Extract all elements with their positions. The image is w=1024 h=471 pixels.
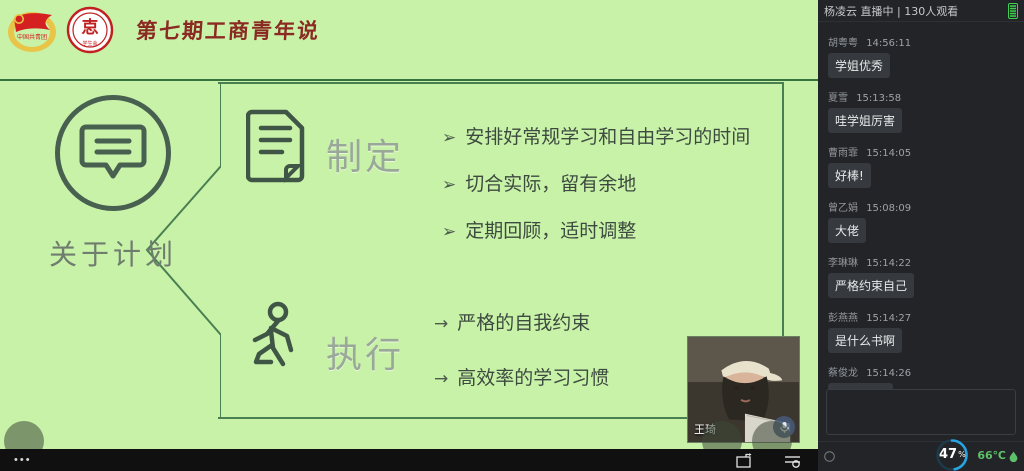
slide-header: 中国共青团 怘 学生会 第七期工商青年说 [0, 4, 320, 56]
bullet-text: 切合实际，留有余地 [465, 175, 636, 194]
arrow-bullet-icon: → [434, 371, 448, 388]
share-screen-icon[interactable] [734, 451, 756, 469]
temperature-indicator: 66℃ [977, 450, 1018, 462]
walking-person-icon [240, 300, 314, 386]
chat-timestamp: 15:14:22 [866, 258, 911, 269]
slide-canvas: 中国共青团 怘 学生会 第七期工商青年说 [0, 0, 818, 471]
chat-message-text: 学姐优秀 [828, 53, 890, 78]
chat-timestamp: 14:56:11 [866, 38, 911, 49]
chat-message: 李琳琳 15:14:22 严格约束自己 [828, 254, 1016, 298]
battery-percent-value: 47 [939, 447, 957, 462]
student-union-emblem: 怘 学生会 [64, 6, 116, 54]
chat-user-name: 胡粤粤 [828, 38, 858, 49]
chat-message: 曾乙娟 15:08:09 大佬 [828, 199, 1016, 243]
chat-message-text: 好棒! [828, 163, 871, 188]
header-divider [0, 79, 818, 81]
chat-message-meta: 曹雨霏 15:14:05 [828, 144, 1016, 159]
chat-user-name: 彭燕燕 [828, 313, 858, 324]
presentation-stage: 中国共青团 怘 学生会 第七期工商青年说 [0, 0, 818, 471]
chevron-bullet-icon: ➢ [442, 130, 456, 147]
stage-toolbar-actions [734, 451, 818, 469]
chat-message-text: 哇学姐厉害 [828, 108, 902, 133]
chevron-bullet-icon: ➢ [442, 177, 456, 194]
chat-message-text: 是什么书啊 [828, 328, 902, 353]
svg-text:中国共青团: 中国共青团 [17, 33, 47, 41]
chat-message-text: 大佬 [828, 218, 866, 243]
bullet-list-exec: → 严格的自我约束 → 高效率的学习习惯 [434, 314, 609, 424]
chat-message-meta: 蔡俊龙 15:14:26 [828, 364, 1016, 379]
bullet-text: 严格的自我约束 [457, 314, 590, 333]
bullet-item: ➢ 切合实际，留有余地 [442, 175, 750, 194]
chat-panel-footer: 47% 66℃ [818, 441, 1024, 471]
topic-block: 关于计划 [18, 95, 208, 273]
chat-timestamp: 15:08:09 [866, 203, 911, 214]
slide-row-plan: 制定 ➢ 安排好常规学习和自由学习的时间 ➢ 切合实际，留有余地 ➢ 定期回顾，… [240, 106, 750, 269]
stage-toolbar: ••• [0, 449, 818, 471]
chat-input-box[interactable] [826, 389, 1016, 435]
arrow-bullet-icon: → [434, 316, 448, 333]
stream-title: 杨凌云 直播中 | 130人观看 [824, 3, 958, 19]
chat-message-meta: 彭燕燕 15:14:27 [828, 309, 1016, 324]
chat-panel: 杨凌云 直播中 | 130人观看 胡粤粤 14:56:11 学姐优秀 [818, 0, 1024, 471]
bullet-item: → 高效率的学习习惯 [434, 369, 609, 388]
chat-user-name: 蔡俊龙 [828, 368, 858, 379]
chat-timestamp: 15:14:05 [866, 148, 911, 159]
signal-bars-icon [1008, 3, 1018, 19]
svg-text:学生会: 学生会 [82, 40, 97, 47]
chat-bubble-icon [824, 451, 835, 462]
chat-message: 蔡俊龙 15:14:26 好厉害👍 [828, 364, 1016, 389]
slide-row-exec: 执行 → 严格的自我约束 → 高效率的学习习惯 [240, 300, 609, 424]
chat-message-meta: 曾乙娟 15:08:09 [828, 199, 1016, 214]
svg-text:怘: 怘 [82, 17, 99, 38]
chat-message: 曹雨霏 15:14:05 好棒! [828, 144, 1016, 188]
settings-icon[interactable] [782, 451, 804, 469]
chat-timestamp: 15:13:58 [856, 93, 901, 104]
deck-title: 第七期工商青年说 [135, 15, 321, 45]
speech-bubble-icon [55, 95, 171, 211]
battery-percent: 47% [935, 438, 969, 471]
chat-message: 胡粤粤 14:56:11 学姐优秀 [828, 34, 1016, 78]
chat-user-name: 夏雪 [828, 93, 848, 104]
row-title-plan: 制定 [326, 128, 404, 180]
chat-timestamp: 15:14:26 [866, 368, 911, 379]
bullet-list-plan: ➢ 安排好常规学习和自由学习的时间 ➢ 切合实际，留有余地 ➢ 定期回顾，适时调… [442, 128, 750, 269]
bullet-item: → 严格的自我约束 [434, 314, 609, 333]
chat-message: 彭燕燕 15:14:27 是什么书啊 [828, 309, 1016, 353]
chat-message-meta: 胡粤粤 14:56:11 [828, 34, 1016, 49]
bullet-text: 安排好常规学习和自由学习的时间 [465, 128, 750, 147]
bullet-text: 高效率的学习习惯 [457, 369, 609, 388]
temperature-value: 66℃ [977, 450, 1006, 462]
communist-youth-league-emblem: 中国共青团 [6, 6, 58, 54]
chat-message-text: 严格约束自己 [828, 273, 914, 298]
bullet-text: 定期回顾，适时调整 [465, 222, 636, 241]
screen: 中国共青团 怘 学生会 第七期工商青年说 [0, 0, 1024, 471]
battery-ring-icon: 47% [935, 438, 969, 471]
water-drop-icon [1009, 451, 1018, 462]
bullet-item: ➢ 定期回顾，适时调整 [442, 222, 750, 241]
chat-message-list[interactable]: 胡粤粤 14:56:11 学姐优秀 夏雪 15:13:58 哇学姐厉害 曹雨霏 … [818, 22, 1024, 389]
chat-message-meta: 李琳琳 15:14:22 [828, 254, 1016, 269]
chat-user-name: 曹雨霏 [828, 148, 858, 159]
topic-label: 关于计划 [18, 233, 208, 273]
more-options-button[interactable]: ••• [14, 454, 32, 466]
chat-user-name: 李琳琳 [828, 258, 858, 269]
message-input-hint[interactable] [824, 451, 839, 462]
chat-timestamp: 15:14:27 [866, 313, 911, 324]
row-title-exec: 执行 [326, 326, 404, 378]
footer-status: 47% 66℃ [935, 442, 1018, 471]
chat-panel-header: 杨凌云 直播中 | 130人观看 [818, 0, 1024, 22]
chat-user-name: 曾乙娟 [828, 203, 858, 214]
chevron-bullet-icon: ➢ [442, 224, 456, 241]
bullet-item: ➢ 安排好常规学习和自由学习的时间 [442, 128, 750, 147]
document-icon [240, 106, 314, 198]
chat-message-meta: 夏雪 15:13:58 [828, 89, 1016, 104]
chat-message: 夏雪 15:13:58 哇学姐厉害 [828, 89, 1016, 133]
battery-percent-unit: % [958, 450, 966, 459]
